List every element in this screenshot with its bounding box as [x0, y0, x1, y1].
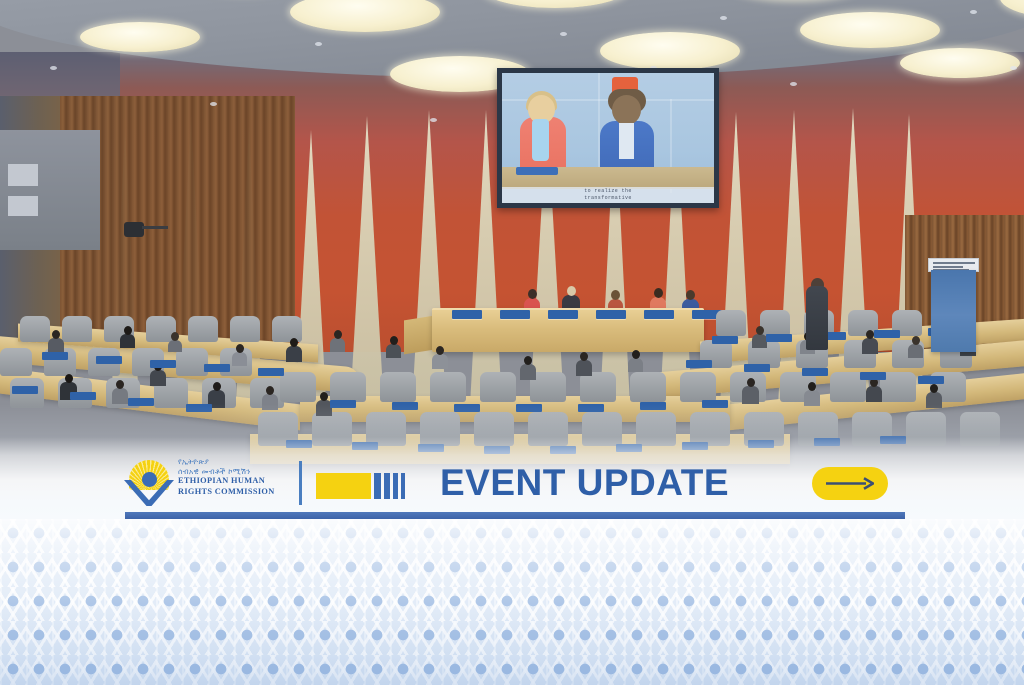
- delegate-head: [334, 330, 342, 339]
- event-update-banner-graphic: to realize the transformative የኢትዮጵያ ሰብአ…: [0, 0, 1024, 685]
- delegate-person: [576, 360, 592, 376]
- banner-text-line: [933, 262, 975, 264]
- delegate-person: [232, 352, 247, 366]
- delegate-person: [386, 344, 401, 358]
- arrow-right-icon: [826, 477, 874, 490]
- screen-caption-line1: to realize the: [502, 188, 714, 195]
- balcony-window: [8, 164, 38, 186]
- delegate-person: [742, 386, 759, 404]
- nameplate-screen: [766, 334, 792, 342]
- brand-english-line1: ETHIOPIAN HUMAN: [178, 476, 296, 487]
- ceiling-fixture: [970, 10, 977, 14]
- delegate-chair: [760, 310, 790, 336]
- screen-person-right-blouse: [619, 123, 634, 159]
- nameplate-screen: [802, 368, 828, 376]
- delegate-chair: [680, 372, 716, 402]
- nameplate-screen: [204, 364, 230, 372]
- screen-person-right-head: [612, 95, 641, 125]
- delegate-chair: [188, 316, 218, 342]
- delegate-person: [150, 370, 166, 386]
- delegate-chair: [580, 372, 616, 402]
- dais-side: [404, 316, 434, 355]
- ethiopian-geometric-pattern-icon: [0, 519, 1024, 685]
- ceiling-light: [290, 0, 440, 32]
- delegate-head: [866, 330, 874, 339]
- delegate-person: [432, 354, 448, 369]
- screen-person-left-scarf: [532, 119, 549, 161]
- ceiling-fixture: [1010, 66, 1017, 70]
- delegate-head: [436, 346, 444, 355]
- delegate-head: [912, 336, 920, 345]
- delegate-person: [862, 338, 878, 354]
- delegate-head: [320, 392, 328, 401]
- delegate-head: [290, 338, 298, 347]
- ceiling-light: [900, 48, 1020, 78]
- ceiling-fixture: [50, 66, 57, 70]
- blue-circle-icon: [142, 472, 157, 487]
- yellow-block: [316, 473, 371, 499]
- delegate-head: [632, 350, 640, 359]
- screen-nameplate: [516, 167, 558, 175]
- delegate-chair: [62, 316, 92, 342]
- nameplate-screen: [96, 356, 122, 364]
- ceiling-light: [1000, 0, 1024, 20]
- nameplate-screen: [500, 310, 530, 319]
- next-arrow-button[interactable]: [812, 467, 888, 500]
- panel-member-head: [567, 286, 576, 296]
- delegate-chair: [380, 372, 416, 402]
- nameplate-screen: [258, 368, 284, 376]
- blue-bar-4: [401, 473, 405, 499]
- blue-bar-2: [384, 473, 390, 499]
- banner-row: የኢትዮጵያ ሰብአዊ መብቶች ኮሚሽን ETHIOPIAN HUMAN RI…: [0, 455, 1024, 513]
- ceiling-fixture: [790, 82, 797, 86]
- ceiling-fixture: [210, 102, 217, 106]
- delegate-head: [756, 326, 764, 335]
- delegate-head: [524, 356, 532, 365]
- blue-bar-3: [393, 473, 398, 499]
- yellow-block-with-blue-bars-icon: [316, 473, 405, 499]
- nameplate-screen: [860, 372, 886, 380]
- delegate-chair: [176, 348, 208, 376]
- nameplate-screen: [42, 352, 68, 360]
- ceiling-light: [800, 12, 940, 48]
- nameplate-screen: [686, 360, 712, 368]
- delegate-head: [580, 352, 588, 361]
- delegate-chair: [430, 372, 466, 402]
- nameplate-screen: [874, 330, 900, 338]
- ceiling-camera: [124, 222, 144, 237]
- nameplate-screen: [596, 310, 626, 319]
- ceiling-fixture: [720, 16, 727, 20]
- delegate-head: [65, 374, 73, 383]
- delegate-chair: [230, 316, 260, 342]
- page-title: EVENT UPDATE: [440, 460, 729, 506]
- delegate-person: [330, 338, 345, 352]
- nameplate-screen: [644, 310, 674, 319]
- standing-person: [806, 286, 828, 350]
- camera-arm: [142, 226, 168, 229]
- horizontal-rule: [125, 512, 905, 519]
- delegate-head: [52, 330, 60, 339]
- ceiling-light: [600, 32, 740, 70]
- delegate-person: [286, 346, 302, 362]
- delegate-head: [266, 386, 274, 395]
- roll-up-banner: [931, 270, 976, 352]
- ceiling-light: [80, 22, 200, 52]
- delegate-person: [866, 386, 882, 402]
- delegate-chair: [480, 372, 516, 402]
- delegate-chair: [20, 316, 50, 342]
- balcony-window: [8, 196, 38, 216]
- nameplate-screen: [12, 386, 38, 394]
- nameplate-screen: [70, 392, 96, 400]
- delegate-person: [120, 334, 135, 348]
- delegate-chair: [716, 310, 746, 336]
- nameplate-screen: [452, 310, 482, 319]
- brand-english-line2: RIGHTS COMMISSION: [178, 487, 296, 498]
- panel-member-head: [611, 290, 620, 300]
- nameplate-screen: [548, 310, 578, 319]
- brand-amharic-line1: የኢትዮጵያ: [178, 457, 296, 467]
- blue-bar-1: [374, 473, 381, 499]
- delegate-head: [171, 332, 179, 341]
- delegate-chair: [630, 372, 666, 402]
- delegate-person: [628, 358, 643, 372]
- nameplate-screen: [712, 336, 738, 344]
- delegate-head: [124, 326, 132, 335]
- projection-screen: to realize the transformative: [497, 68, 719, 208]
- ceiling-fixture: [560, 32, 567, 36]
- delegate-head: [930, 384, 938, 393]
- delegate-person: [908, 344, 923, 358]
- brand-amharic-line2: ሰብአዊ መብቶች ኮሚሽን: [178, 467, 296, 477]
- panel-member-head: [686, 290, 695, 300]
- delegate-chair: [272, 316, 302, 342]
- screen-caption-line2: transformative: [502, 195, 714, 202]
- ethiopian-human-rights-commission-emblem-icon: [124, 460, 174, 508]
- banner-text-line: [933, 266, 963, 268]
- panel-member-head: [654, 288, 663, 298]
- delegate-head: [116, 380, 124, 389]
- nameplate-screen: [744, 364, 770, 372]
- delegate-person: [112, 388, 128, 404]
- nameplate-screen: [918, 376, 944, 384]
- brand-wordmark: የኢትዮጵያ ሰብአዊ መብቶች ኮሚሽን ETHIOPIAN HUMAN RI…: [178, 457, 296, 497]
- vertical-rule-icon: [299, 461, 302, 505]
- delegate-chair: [0, 348, 32, 376]
- panel-member-head: [528, 289, 537, 299]
- delegate-chair: [280, 372, 316, 402]
- nameplate-screen: [150, 360, 176, 368]
- delegate-person: [752, 334, 767, 348]
- delegate-head: [390, 336, 398, 345]
- delegate-person: [168, 340, 182, 352]
- delegate-person: [520, 364, 536, 380]
- balcony-wall: [0, 130, 100, 250]
- delegate-chair: [330, 372, 366, 402]
- ceiling-fixture: [315, 42, 322, 46]
- pattern-fade: [0, 519, 1024, 685]
- delegate-head: [747, 378, 755, 387]
- ceiling-fixture: [430, 118, 437, 122]
- ceiling-light: [480, 0, 630, 8]
- delegate-head: [808, 382, 816, 391]
- delegate-head: [236, 344, 244, 353]
- delegate-head: [213, 382, 221, 391]
